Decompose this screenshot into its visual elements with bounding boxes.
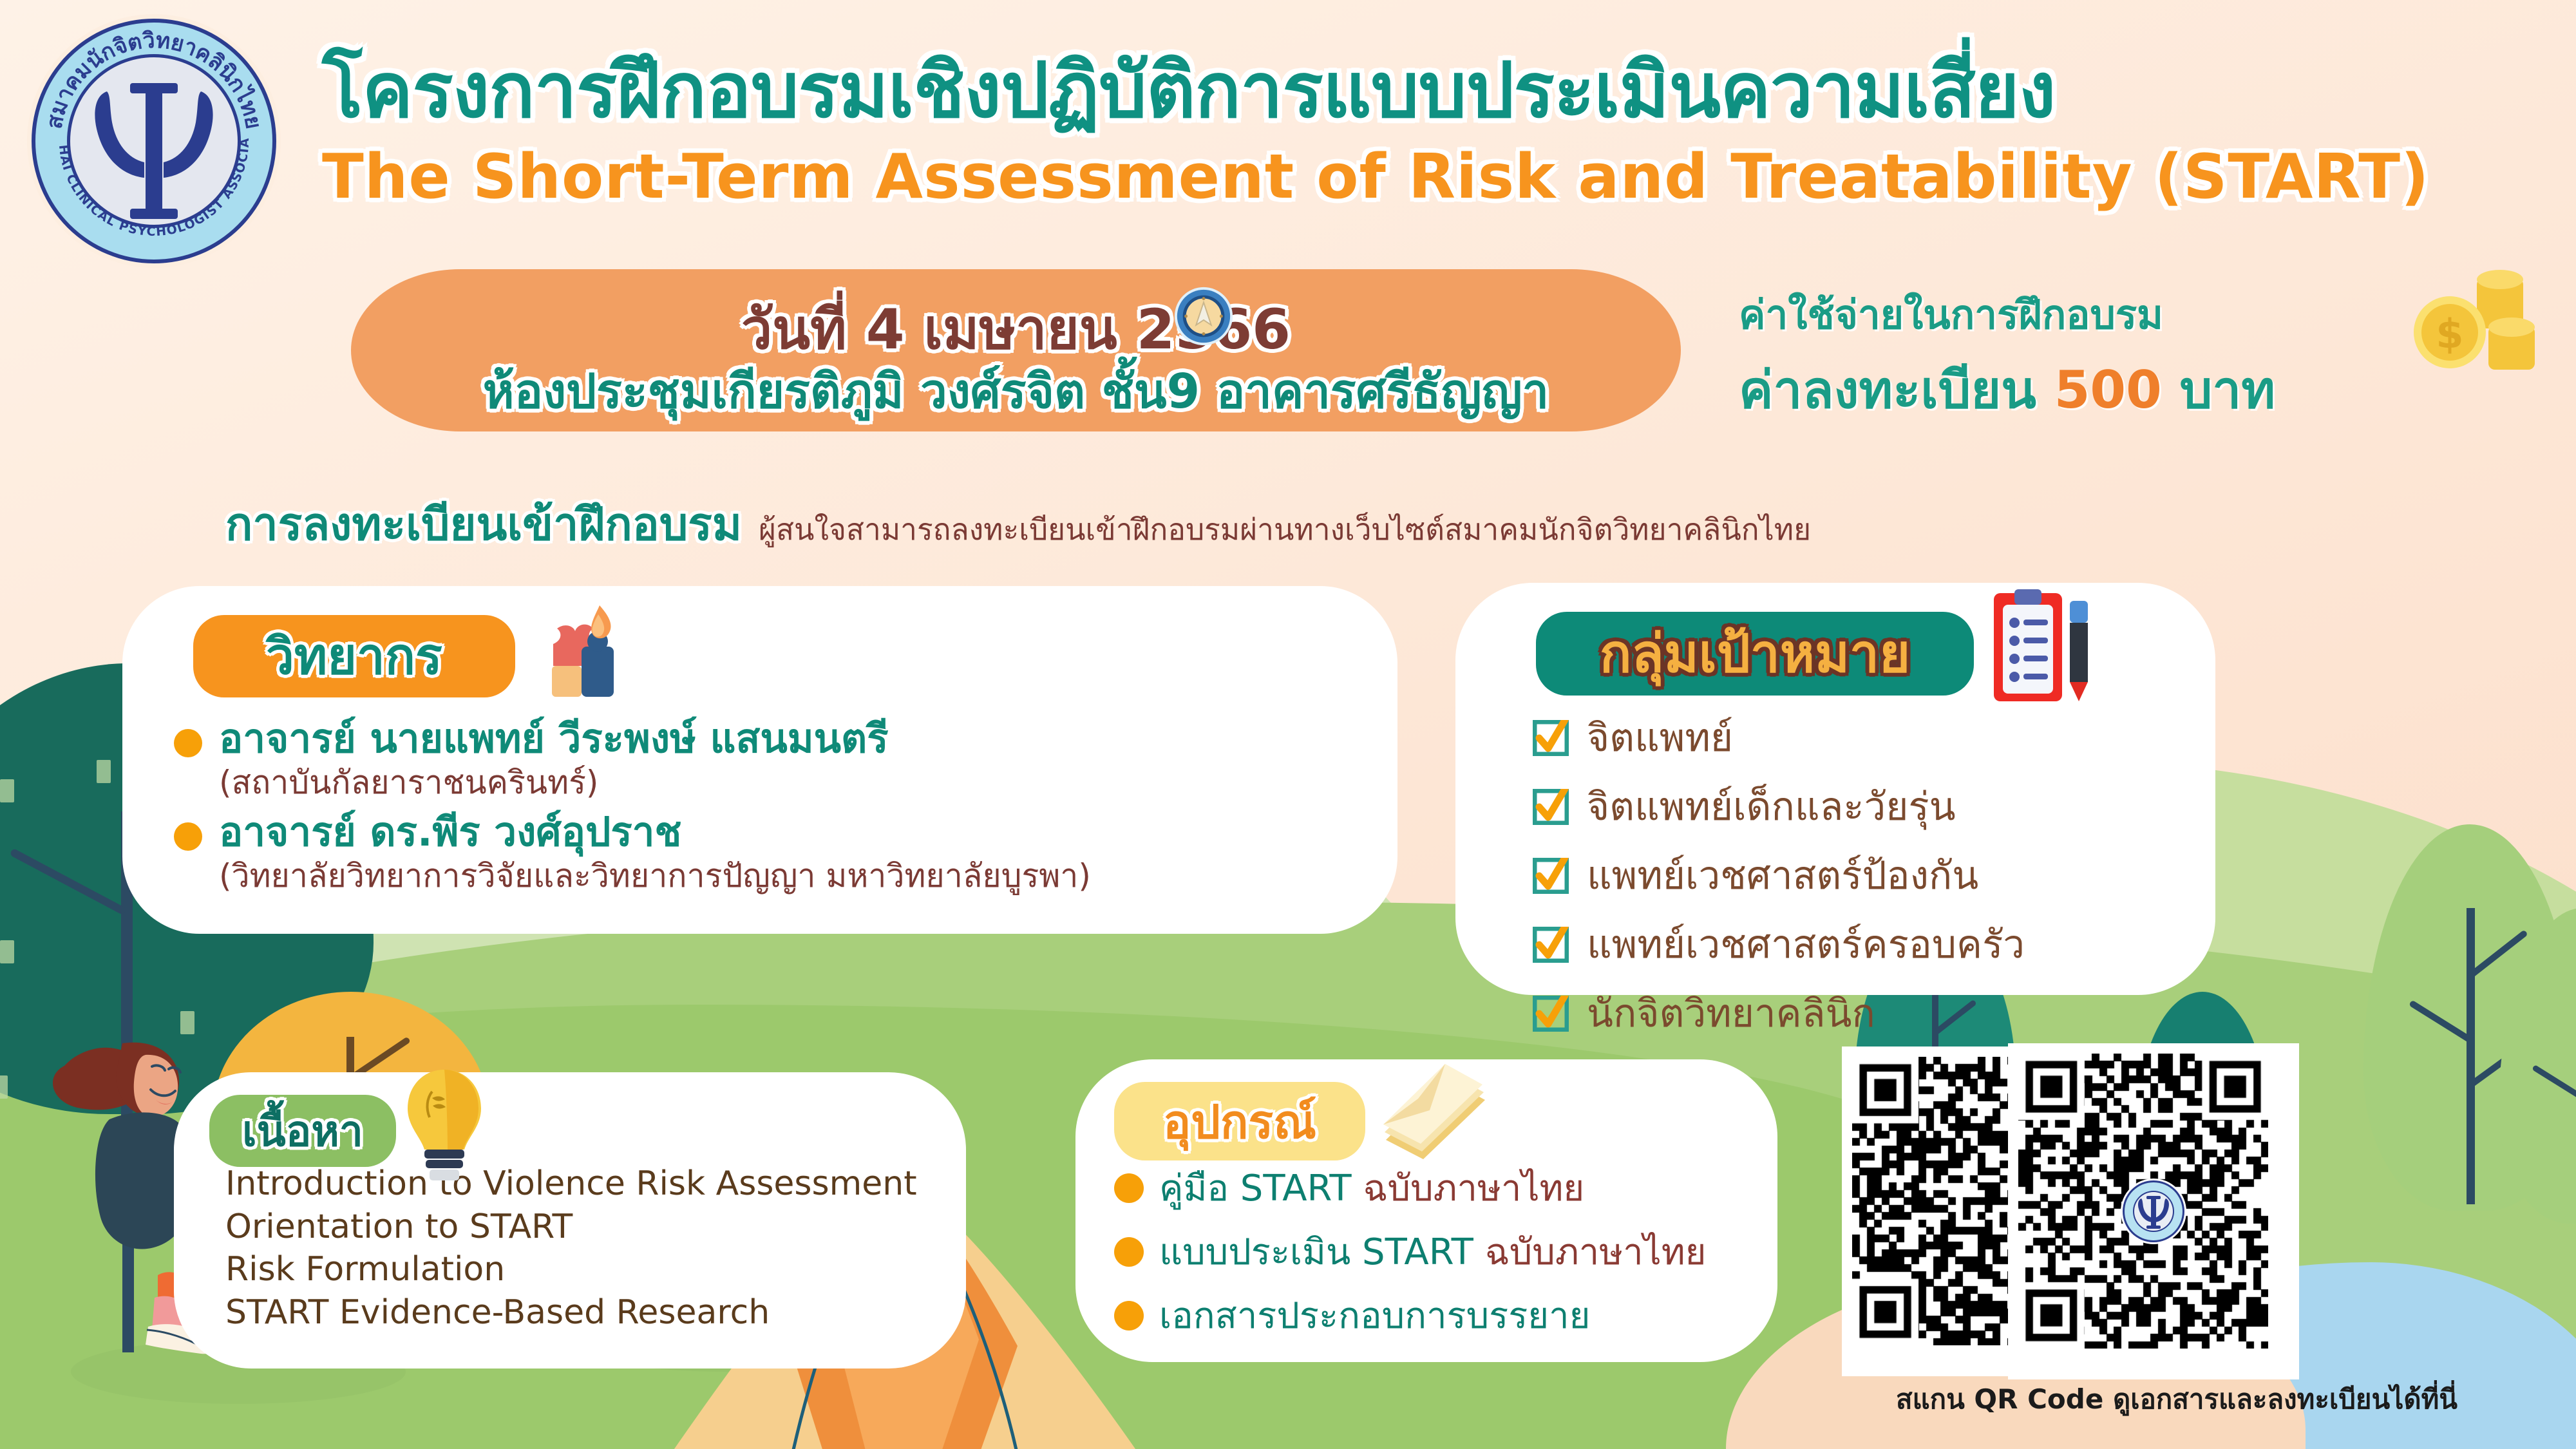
badge-equipment-label: อุปกรณ์: [1163, 1084, 1316, 1159]
badge-speakers: วิทยากร: [193, 615, 515, 697]
fee-amount: 500: [2054, 360, 2162, 420]
registration-heading: การลงทะเบียนเข้าฝึกอบรม: [225, 488, 742, 560]
list-item: แพทย์เวชศาสตร์ป้องกัน: [1533, 845, 2215, 906]
speaker-affiliation: (สถาบันกัลยาราชนครินทร์): [219, 763, 1397, 802]
clock-icon: [1172, 285, 1235, 348]
qr-caption: สแกน QR Code ดูเอกสารและลงทะเบียนได้ที่น…: [1816, 1378, 2537, 1421]
bullet-dot: [1114, 1237, 1144, 1267]
date-venue-banner: วันที่ 4 เมษายน 2566 ห้องประชุมเกียรติภู…: [351, 269, 1681, 431]
checkbox-checked-icon: [1533, 996, 1569, 1032]
page-title-thai: โครงการฝึกอบรมเชิงปฏิบัติการแบบประเมินคว…: [322, 46, 2429, 135]
qr-code-registration[interactable]: [2008, 1043, 2299, 1379]
target-group-label: นักจิตวิทยาคลินิก: [1587, 983, 1875, 1044]
header-titles: โครงการฝึกอบรมเชิงปฏิบัติการแบบประเมินคว…: [322, 46, 2429, 213]
speakers-list: อาจารย์ นายแพทย์ วีระพงษ์ แสนมนตรี (สถาบ…: [174, 715, 1397, 902]
registration-row: การลงทะเบียนเข้าฝึกอบรม ผู้สนใจสามารถลงท…: [225, 488, 1811, 560]
puzzle-piece-icon: [531, 599, 634, 702]
checkbox-checked-icon: [1533, 789, 1569, 825]
list-item: อาจารย์ นายแพทย์ วีระพงษ์ แสนมนตรี: [174, 715, 1397, 762]
list-item: นักจิตวิทยาคลินิก: [1533, 983, 2215, 1044]
association-logo: สมาคมนักจิตวิทยาคลินิกไทย THE THAI CLINI…: [22, 9, 286, 273]
checkbox-checked-icon: [1533, 720, 1569, 756]
paper-stack-icon: [1378, 1063, 1491, 1166]
equipment-label: เอกสารประกอบการบรรยาย: [1159, 1287, 1590, 1344]
registration-subtext: ผู้สนใจสามารถลงทะเบียนเข้าฝึกอบรมผ่านทาง…: [759, 506, 1811, 553]
equipment-main: เอกสารประกอบการบรรยาย: [1159, 1295, 1590, 1337]
checkbox-checked-icon: [1533, 858, 1569, 894]
speaker-name: อาจารย์ นายแพทย์ วีระพงษ์ แสนมนตรี: [219, 715, 889, 762]
badge-speakers-label: วิทยากร: [266, 616, 442, 696]
target-group-label: จิตแพทย์: [1587, 707, 1733, 768]
equipment-thai: ฉบับภาษาไทย: [1363, 1168, 1584, 1209]
clipboard-pen-icon: [1990, 589, 2099, 712]
list-item: อาจารย์ ดร.พีร วงศ์อุปราช: [174, 808, 1397, 855]
list-item: แพทย์เวชศาสตร์ครอบครัว: [1533, 914, 2215, 975]
badge-target-group: กลุ่มเป้าหมาย: [1536, 612, 1974, 696]
list-item: คู่มือ START ฉบับภาษาไทย: [1114, 1159, 1784, 1217]
list-item: จิตแพทย์: [1533, 707, 2215, 768]
content-line: Orientation to START: [225, 1206, 947, 1249]
equipment-thai: ฉบับภาษาไทย: [1485, 1231, 1707, 1273]
list-item: จิตแพทย์เด็กและวัยรุ่น: [1533, 776, 2215, 837]
event-venue: ห้องประชุมเกียรติภูมิ วงศ์รจิต ชั้น9 อาค…: [351, 353, 1681, 429]
content-line: START Evidence-Based Research: [225, 1291, 947, 1334]
badge-content-label: เนื้อหา: [242, 1097, 363, 1165]
list-item: เอกสารประกอบการบรรยาย: [1114, 1287, 1784, 1344]
badge-content: เนื้อหา: [209, 1095, 396, 1167]
fee-prefix: ค่าลงทะเบียน: [1739, 360, 2054, 420]
target-group-label: จิตแพทย์เด็กและวัยรุ่น: [1587, 776, 1956, 837]
poster-root: สมาคมนักจิตวิทยาคลินิกไทย THE THAI CLINI…: [0, 0, 2576, 1449]
bullet-dot: [1114, 1173, 1144, 1203]
fee-block: $ ค่าใช้จ่ายในการฝึกอบรม ค่าลงทะเบียน 50…: [1739, 283, 2537, 431]
lightbulb-icon: [402, 1066, 486, 1185]
bullet-dot: [174, 822, 202, 851]
badge-target-label: กลุ่มเป้าหมาย: [1600, 612, 1910, 696]
bullet-dot: [1114, 1301, 1144, 1331]
content-line: Risk Formulation: [225, 1248, 947, 1291]
equipment-main: แบบประเมิน START: [1159, 1231, 1485, 1273]
content-line: Introduction to Violence Risk Assessment: [225, 1162, 947, 1206]
fee-suffix: บาท: [2162, 360, 2275, 420]
coins-icon: $: [2407, 264, 2543, 386]
svg-text:$: $: [2436, 310, 2463, 357]
equipment-list: คู่มือ START ฉบับภาษาไทย แบบประเมิน STAR…: [1114, 1159, 1784, 1350]
list-item: แบบประเมิน START ฉบับภาษาไทย: [1114, 1223, 1784, 1280]
content-list: Introduction to Violence Risk Assessment…: [225, 1162, 947, 1334]
equipment-main: คู่มือ START: [1159, 1168, 1363, 1209]
equipment-label: คู่มือ START ฉบับภาษาไทย: [1159, 1159, 1584, 1217]
equipment-label: แบบประเมิน START ฉบับภาษาไทย: [1159, 1223, 1706, 1280]
target-group-list: จิตแพทย์ จิตแพทย์เด็กและวัยรุ่น แพทย์เวช…: [1533, 707, 2215, 1052]
speaker-name: อาจารย์ ดร.พีร วงศ์อุปราช: [219, 808, 682, 855]
tree-light-right-2: [2499, 908, 2576, 1243]
target-group-label: แพทย์เวชศาสตร์ป้องกัน: [1587, 845, 1978, 906]
speaker-affiliation: (วิทยาลัยวิทยาการวิจัยและวิทยาการปัญญา ม…: [219, 857, 1397, 895]
page-title-english: The Short-Term Assessment of Risk and Tr…: [322, 142, 2429, 213]
badge-equipment: อุปกรณ์: [1114, 1082, 1365, 1160]
bullet-dot: [174, 729, 202, 757]
target-group-label: แพทย์เวชศาสตร์ครอบครัว: [1587, 914, 2025, 975]
qr-center-logo: [2120, 1178, 2187, 1245]
checkbox-checked-icon: [1533, 927, 1569, 963]
